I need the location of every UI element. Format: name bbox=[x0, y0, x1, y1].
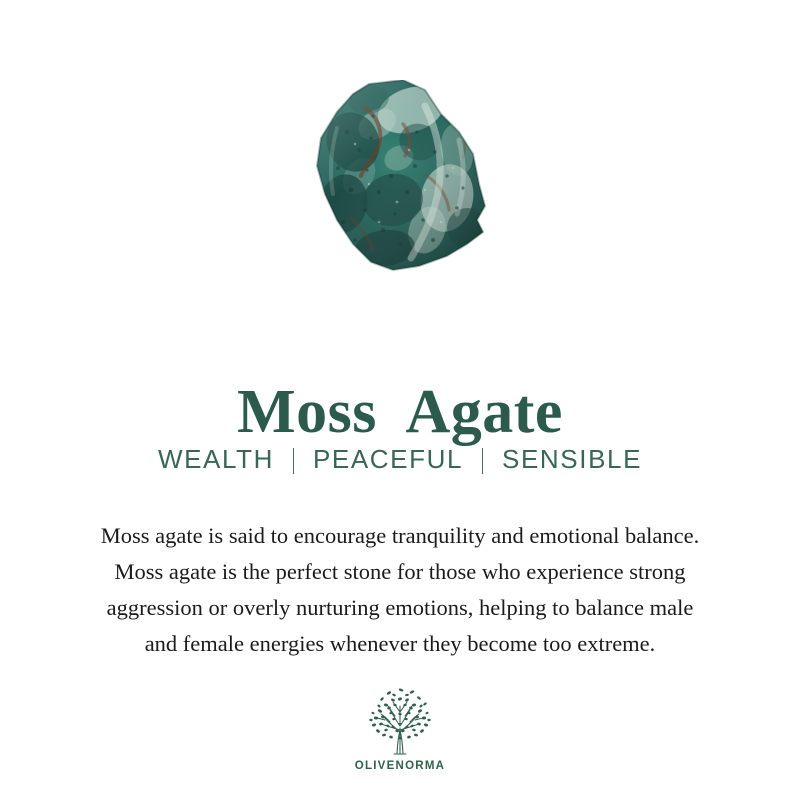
olive-tree-icon bbox=[357, 686, 443, 756]
keyword-separator bbox=[293, 448, 294, 474]
description-line: Moss agate is the perfect stone for thos… bbox=[40, 554, 760, 590]
brand-name: OLIVENORMA bbox=[355, 760, 445, 772]
keyword-peaceful: PEACEFUL bbox=[313, 444, 463, 475]
description-line: Moss agate is said to encourage tranquil… bbox=[40, 518, 760, 554]
gemstone-image-container bbox=[0, 78, 800, 273]
keyword-sensible: SENSIBLE bbox=[502, 444, 642, 475]
moss-agate-stone-image bbox=[307, 80, 493, 272]
product-info-card: Moss Agate WEALTH PEACEFUL SENSIBLE Moss… bbox=[0, 0, 800, 800]
keyword-list: WEALTH PEACEFUL SENSIBLE bbox=[0, 444, 800, 475]
description-line: aggression or overly nurturing emotions,… bbox=[40, 590, 760, 626]
brand-logo: OLIVENORMA bbox=[0, 686, 800, 772]
keyword-wealth: WEALTH bbox=[158, 444, 274, 475]
description-line: and female energies whenever they become… bbox=[40, 626, 760, 662]
product-title: Moss Agate bbox=[0, 380, 800, 445]
product-description: Moss agate is said to encourage tranquil… bbox=[40, 518, 760, 662]
keyword-separator bbox=[482, 448, 483, 474]
